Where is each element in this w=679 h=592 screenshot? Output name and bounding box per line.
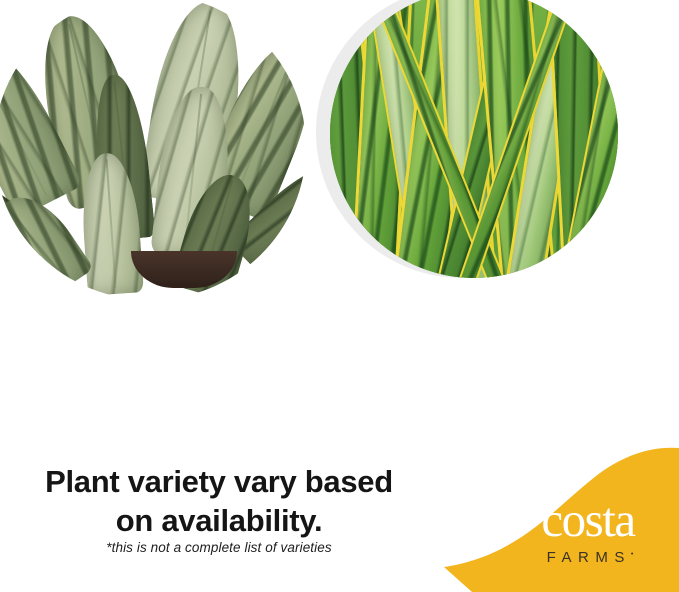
plant-photo-right — [330, 0, 618, 278]
caption-area: Plant variety vary based on availability… — [0, 440, 679, 592]
photo-area — [0, 0, 679, 440]
banner-root: Plant variety vary based on availability… — [0, 0, 679, 592]
headline-line-2: on availability. — [116, 503, 323, 538]
trademark-icon: • — [631, 551, 633, 558]
logo-brand-primary: costa — [508, 496, 668, 543]
logo-wordmark: costa FARMS• — [508, 496, 668, 566]
costa-farms-logo: costa FARMS• — [400, 440, 679, 592]
logo-brand-secondary: FARMS• — [512, 549, 668, 566]
disclaimer-text: *this is not a complete list of varietie… — [18, 540, 420, 555]
plant-photo-left — [0, 0, 306, 300]
logo-farms-text: FARMS — [547, 549, 631, 566]
leaf-cluster-left — [0, 0, 306, 300]
headline-line-1: Plant variety vary based — [45, 464, 393, 499]
page-title: Plant variety vary based on availability… — [18, 462, 420, 540]
